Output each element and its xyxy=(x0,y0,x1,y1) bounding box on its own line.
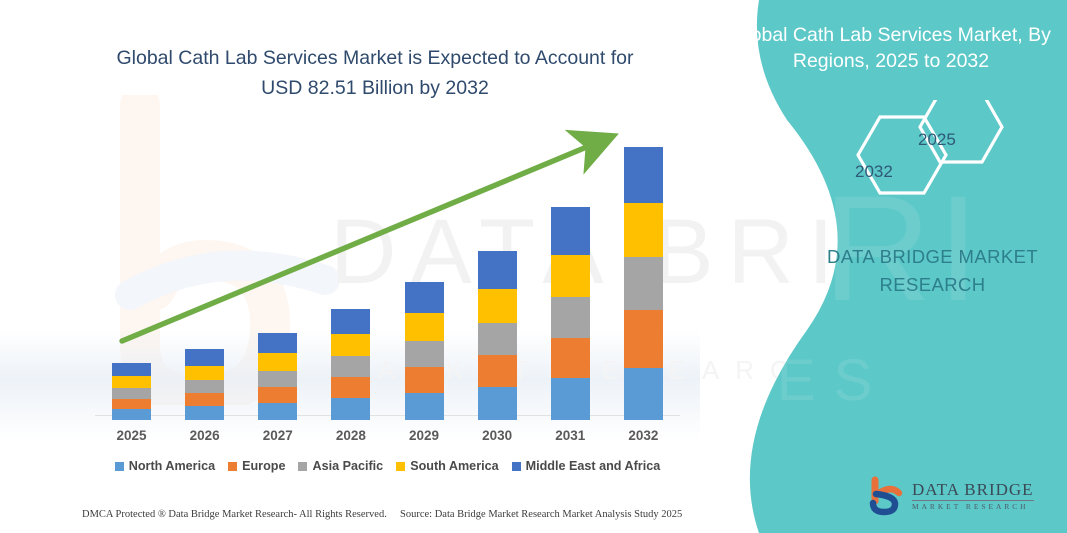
footer-copyright: DMCA Protected ® Data Bridge Market Rese… xyxy=(82,509,387,520)
legend-label: Asia Pacific xyxy=(312,459,383,473)
bar-2027 xyxy=(258,333,297,420)
chart-x-axis-labels: 20252026202720282029203020312032 xyxy=(95,428,680,448)
hexagon-label-2025: 2025 xyxy=(918,130,956,150)
bar-segment xyxy=(112,388,151,399)
bar-segment xyxy=(258,353,297,371)
panel-title: Global Cath Lab Services Market, By Regi… xyxy=(730,22,1052,74)
legend-label: South America xyxy=(410,459,498,473)
bar-segment xyxy=(551,378,590,420)
bar-segment xyxy=(624,203,663,257)
bar-segment xyxy=(478,387,517,420)
bar-segment xyxy=(112,409,151,420)
x-axis-label-2032: 2032 xyxy=(613,428,673,443)
bar-segment xyxy=(331,356,370,377)
bar-segment xyxy=(258,371,297,387)
legend-item[interactable]: Middle East and Africa xyxy=(512,459,661,473)
x-axis-label-2029: 2029 xyxy=(394,428,454,443)
x-axis-label-2027: 2027 xyxy=(248,428,308,443)
footer-source: Source: Data Bridge Market Research Mark… xyxy=(400,509,682,520)
bar-segment xyxy=(185,393,224,406)
bar-segment xyxy=(185,366,224,380)
bar-segment xyxy=(331,398,370,420)
x-axis-label-2031: 2031 xyxy=(540,428,600,443)
bar-2030 xyxy=(478,251,517,420)
bar-segment xyxy=(258,333,297,353)
legend-swatch-icon xyxy=(512,462,521,471)
legend-swatch-icon xyxy=(228,462,237,471)
x-axis-label-2025: 2025 xyxy=(102,428,162,443)
bar-segment xyxy=(624,147,663,203)
bar-segment xyxy=(478,323,517,355)
bar-segment xyxy=(331,309,370,334)
bar-segment xyxy=(258,387,297,403)
bar-segment xyxy=(405,393,444,420)
bar-segment xyxy=(551,297,590,338)
legend-swatch-icon xyxy=(115,462,124,471)
bar-segment xyxy=(258,403,297,420)
legend-swatch-icon xyxy=(298,462,307,471)
legend-item[interactable]: North America xyxy=(115,459,215,473)
bar-2025 xyxy=(112,363,151,420)
bar-2032 xyxy=(624,147,663,420)
bar-segment xyxy=(405,313,444,341)
legend-label: Europe xyxy=(242,459,285,473)
bar-2028 xyxy=(331,309,370,420)
bar-segment xyxy=(331,334,370,356)
legend-label: North America xyxy=(129,459,215,473)
bar-segment xyxy=(405,367,444,393)
bar-segment xyxy=(185,380,224,393)
x-axis-label-2030: 2030 xyxy=(467,428,527,443)
legend-item[interactable]: Europe xyxy=(228,459,285,473)
bar-segment xyxy=(185,349,224,366)
logo-bridge-mark-icon xyxy=(865,476,905,516)
bar-segment xyxy=(624,368,663,420)
bar-segment xyxy=(112,363,151,376)
hexagon-pair xyxy=(820,100,1010,210)
x-axis-label-2026: 2026 xyxy=(175,428,235,443)
bar-segment xyxy=(624,310,663,368)
x-axis-label-2028: 2028 xyxy=(321,428,381,443)
legend-swatch-icon xyxy=(396,462,405,471)
bar-segment xyxy=(624,257,663,310)
infographic-root: DATA BRIDGE MARKET RESEARCH BRI RES Glob… xyxy=(0,0,1067,533)
bar-2026 xyxy=(185,349,224,420)
hexagon-label-2032: 2032 xyxy=(855,162,893,182)
stacked-bar-chart xyxy=(95,125,680,420)
bar-segment xyxy=(478,251,517,289)
bar-segment xyxy=(112,376,151,388)
panel-brand-line: DATA BRIDGE MARKET RESEARCH xyxy=(800,243,1065,299)
legend-label: Middle East and Africa xyxy=(526,459,661,473)
bar-segment xyxy=(405,341,444,367)
svg-text:RES: RES xyxy=(717,348,890,413)
logo-name: DATA BRIDGE xyxy=(912,481,1034,498)
logo-subtitle: MARKET RESEARCH xyxy=(912,500,1034,510)
bar-segment xyxy=(112,399,151,409)
bar-segment xyxy=(478,289,517,323)
bar-segment xyxy=(551,255,590,297)
page-title: Global Cath Lab Services Market is Expec… xyxy=(95,43,655,103)
bar-segment xyxy=(551,338,590,378)
legend-item[interactable]: South America xyxy=(396,459,498,473)
chart-legend: North AmericaEuropeAsia PacificSouth Ame… xyxy=(95,459,680,473)
bar-2031 xyxy=(551,207,590,420)
bar-segment xyxy=(405,282,444,313)
data-bridge-logo: DATA BRIDGE MARKET RESEARCH xyxy=(865,472,1045,520)
bar-2029 xyxy=(405,282,444,420)
bar-segment xyxy=(185,406,224,420)
logo-text-block: DATA BRIDGE MARKET RESEARCH xyxy=(912,481,1034,510)
bar-segment xyxy=(478,355,517,387)
bar-segment xyxy=(551,207,590,255)
legend-item[interactable]: Asia Pacific xyxy=(298,459,383,473)
bar-segment xyxy=(331,377,370,398)
